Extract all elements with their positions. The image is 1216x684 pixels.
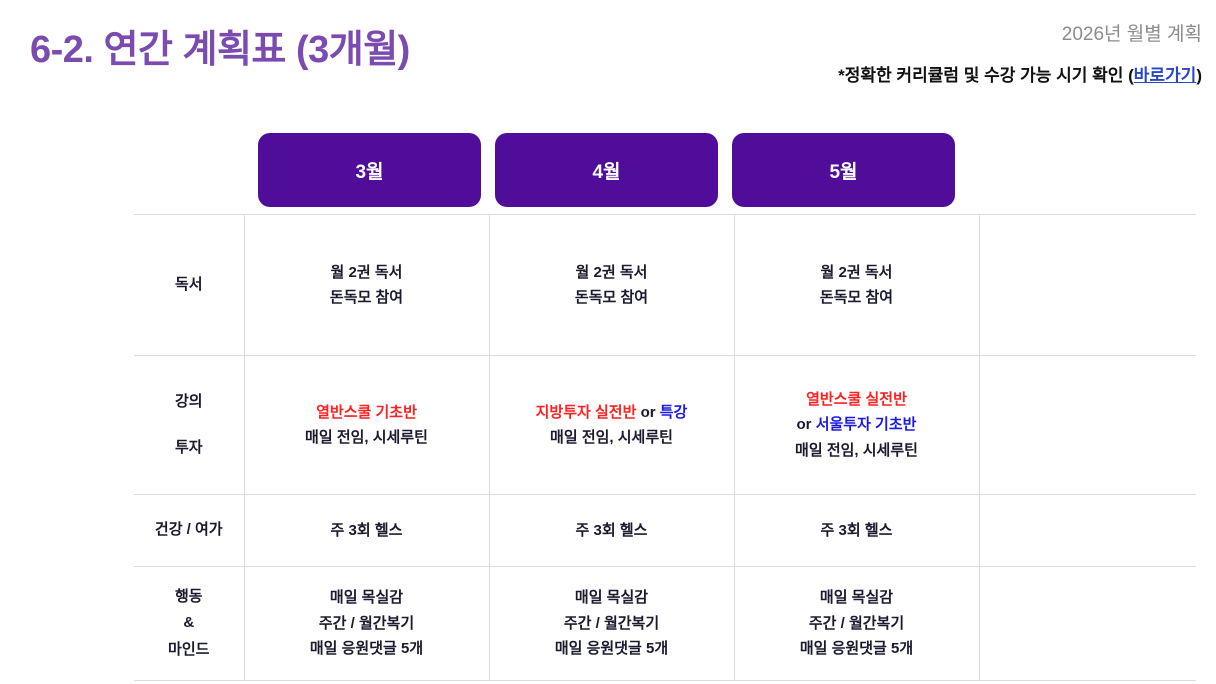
- slide-root: 6-2. 연간 계획표 (3개월) 2026년 월별 계획 *정확한 커리큘럼 …: [0, 0, 1216, 684]
- row-label-cell: 독서: [134, 215, 244, 356]
- plan-cell: 주 3회 헬스: [489, 495, 734, 567]
- plan-cell-lines: 주 3회 헬스: [735, 518, 979, 544]
- plan-text-segment: 주간 / 월간복기: [809, 615, 904, 632]
- plan-cell-line: 월 2권 독서: [735, 260, 979, 286]
- plan-text-segment: 주 3회 헬스: [576, 522, 648, 539]
- plan-cell-line: or 서울투자 기초반: [735, 412, 979, 438]
- plan-cell-line: 매일 목실감: [245, 585, 489, 611]
- table-trailing-spacer: [979, 215, 1196, 356]
- plan-cell: 매일 목실감주간 / 월간복기매일 응원댓글 5개: [489, 567, 734, 681]
- plan-cell-line: 매일 전임, 시세루틴: [245, 425, 489, 451]
- plan-cell-line: 매일 목실감: [490, 585, 734, 611]
- plan-cell-line: 주간 / 월간복기: [735, 611, 979, 637]
- row-label-line: 강의: [134, 389, 244, 415]
- year-plan-label: 2026년 월별 계획: [838, 24, 1202, 47]
- header-right-block: 2026년 월별 계획 *정확한 커리큘럼 및 수강 가능 시기 확인 (바로가…: [838, 24, 1202, 86]
- plan-cell-lines: 월 2권 독서돈독모 참여: [490, 260, 734, 311]
- plan-cell: 매일 목실감주간 / 월간복기매일 응원댓글 5개: [244, 567, 489, 681]
- plan-text-segment: 지방투자 실전반: [536, 404, 637, 421]
- plan-cell-line: 주 3회 헬스: [490, 518, 734, 544]
- curriculum-note-suffix: ): [1196, 66, 1202, 85]
- plan-cell: 주 3회 헬스: [734, 495, 979, 567]
- row-label-stack: 건강 / 여가: [134, 517, 244, 543]
- plan-cell-line: 열반스쿨 실전반: [735, 387, 979, 413]
- plan-cell-line: 매일 목실감: [735, 585, 979, 611]
- plan-text-segment: 주간 / 월간복기: [564, 615, 659, 632]
- plan-cell-line: 돈독모 참여: [735, 285, 979, 311]
- plan-text-segment: 매일 목실감: [820, 589, 893, 606]
- plan-cell-line: 주 3회 헬스: [245, 518, 489, 544]
- plan-cell-line: 주간 / 월간복기: [245, 611, 489, 637]
- plan-text-segment: 열반스쿨 실전반: [806, 391, 907, 408]
- table-row: 건강 / 여가주 3회 헬스주 3회 헬스주 3회 헬스: [134, 495, 1196, 567]
- plan-text-segment: 월 2권 독서: [576, 264, 648, 281]
- plan-text-segment: 월 2권 독서: [821, 264, 893, 281]
- plan-cell: 열반스쿨 기초반매일 전임, 시세루틴: [244, 356, 489, 495]
- plan-text-segment: or: [797, 416, 816, 433]
- plan-text-segment: 돈독모 참여: [575, 289, 648, 306]
- row-label-line: 행동: [134, 584, 244, 610]
- plan-cell-line: 돈독모 참여: [490, 285, 734, 311]
- curriculum-note-prefix: *정확한 커리큘럼 및 수강 가능 시기 확인 (: [838, 66, 1134, 85]
- plan-text-segment: 주 3회 헬스: [331, 522, 403, 539]
- plan-cell-lines: 매일 목실감주간 / 월간복기매일 응원댓글 5개: [490, 585, 734, 662]
- plan-cell-lines: 매일 목실감주간 / 월간복기매일 응원댓글 5개: [735, 585, 979, 662]
- plan-text-segment: 월 2권 독서: [331, 264, 403, 281]
- plan-text-segment: 특강: [660, 404, 688, 421]
- row-label-line: &: [134, 610, 244, 636]
- plan-cell-line: 매일 응원댓글 5개: [490, 636, 734, 662]
- row-label-stack: 강의투자: [134, 389, 244, 462]
- plan-text-segment: 매일 응원댓글 5개: [800, 640, 913, 657]
- plan-text-segment: 주간 / 월간복기: [319, 615, 414, 632]
- plan-cell-line: 매일 응원댓글 5개: [245, 636, 489, 662]
- plan-text-segment: 매일 전임, 시세루틴: [550, 429, 673, 446]
- row-label-line: 마인드: [134, 637, 244, 663]
- plan-text-segment: 서울투자 기초반: [816, 416, 917, 433]
- plan-cell-line: 돈독모 참여: [245, 285, 489, 311]
- plan-cell-lines: 주 3회 헬스: [245, 518, 489, 544]
- plan-text-segment: 주 3회 헬스: [821, 522, 893, 539]
- plan-text-segment: or: [636, 404, 659, 421]
- plan-cell: 월 2권 독서돈독모 참여: [734, 215, 979, 356]
- table-trailing-spacer: [979, 356, 1196, 495]
- row-label-cell: 강의투자: [134, 356, 244, 495]
- month-header-pill[interactable]: 4월: [495, 133, 718, 207]
- plan-cell: 월 2권 독서돈독모 참여: [244, 215, 489, 356]
- row-label-line: 건강 / 여가: [134, 517, 244, 543]
- plan-cell-lines: 매일 목실감주간 / 월간복기매일 응원댓글 5개: [245, 585, 489, 662]
- plan-cell-line: 지방투자 실전반 or 특강: [490, 400, 734, 426]
- month-header-pill[interactable]: 3월: [258, 133, 481, 207]
- table-trailing-spacer: [979, 567, 1196, 681]
- month-header-row: 3월4월5월: [258, 133, 955, 207]
- plan-cell-lines: 지방투자 실전반 or 특강매일 전임, 시세루틴: [490, 400, 734, 451]
- plan-cell-line: 열반스쿨 기초반: [245, 400, 489, 426]
- plan-cell-lines: 월 2권 독서돈독모 참여: [245, 260, 489, 311]
- plan-text-segment: 열반스쿨 기초반: [316, 404, 417, 421]
- plan-text-segment: 매일 목실감: [575, 589, 648, 606]
- month-header-pill[interactable]: 5월: [732, 133, 955, 207]
- curriculum-note: *정확한 커리큘럼 및 수강 가능 시기 확인 (바로가기): [838, 61, 1202, 86]
- plan-text-segment: 매일 응원댓글 5개: [555, 640, 668, 657]
- curriculum-link[interactable]: 바로가기: [1134, 66, 1197, 85]
- row-label-cell: 행동&마인드: [134, 567, 244, 681]
- annual-plan-table: 독서월 2권 독서돈독모 참여월 2권 독서돈독모 참여월 2권 독서돈독모 참…: [134, 214, 1196, 681]
- plan-cell: 열반스쿨 실전반or 서울투자 기초반매일 전임, 시세루틴: [734, 356, 979, 495]
- row-label-line: 독서: [134, 272, 244, 298]
- table-trailing-spacer: [979, 495, 1196, 567]
- plan-cell-line: 매일 전임, 시세루틴: [735, 438, 979, 464]
- row-label-cell: 건강 / 여가: [134, 495, 244, 567]
- plan-cell-line: 매일 응원댓글 5개: [735, 636, 979, 662]
- row-label-stack: 독서: [134, 272, 244, 298]
- plan-text-segment: 돈독모 참여: [330, 289, 403, 306]
- plan-cell-lines: 열반스쿨 실전반or 서울투자 기초반매일 전임, 시세루틴: [735, 387, 979, 464]
- plan-cell-lines: 월 2권 독서돈독모 참여: [735, 260, 979, 311]
- plan-cell: 월 2권 독서돈독모 참여: [489, 215, 734, 356]
- plan-cell-lines: 열반스쿨 기초반매일 전임, 시세루틴: [245, 400, 489, 451]
- plan-cell-line: 주 3회 헬스: [735, 518, 979, 544]
- plan-text-segment: 매일 응원댓글 5개: [310, 640, 423, 657]
- plan-cell: 매일 목실감주간 / 월간복기매일 응원댓글 5개: [734, 567, 979, 681]
- row-label-stack: 행동&마인드: [134, 584, 244, 663]
- table-row: 행동&마인드매일 목실감주간 / 월간복기매일 응원댓글 5개매일 목실감주간 …: [134, 567, 1196, 681]
- plan-cell-line: 주간 / 월간복기: [490, 611, 734, 637]
- table-row: 강의투자열반스쿨 기초반매일 전임, 시세루틴지방투자 실전반 or 특강매일 …: [134, 356, 1196, 495]
- plan-cell: 주 3회 헬스: [244, 495, 489, 567]
- plan-cell-line: 월 2권 독서: [245, 260, 489, 286]
- plan-cell-lines: 주 3회 헬스: [490, 518, 734, 544]
- plan-cell: 지방투자 실전반 or 특강매일 전임, 시세루틴: [489, 356, 734, 495]
- row-label-line: 투자: [134, 435, 244, 461]
- plan-text-segment: 매일 전임, 시세루틴: [305, 429, 428, 446]
- plan-text-segment: 매일 목실감: [330, 589, 403, 606]
- plan-text-segment: 돈독모 참여: [820, 289, 893, 306]
- plan-cell-line: 월 2권 독서: [490, 260, 734, 286]
- plan-text-segment: 매일 전임, 시세루틴: [795, 442, 918, 459]
- table-row: 독서월 2권 독서돈독모 참여월 2권 독서돈독모 참여월 2권 독서돈독모 참…: [134, 215, 1196, 356]
- page-title: 6-2. 연간 계획표 (3개월): [30, 18, 410, 73]
- plan-cell-line: 매일 전임, 시세루틴: [490, 425, 734, 451]
